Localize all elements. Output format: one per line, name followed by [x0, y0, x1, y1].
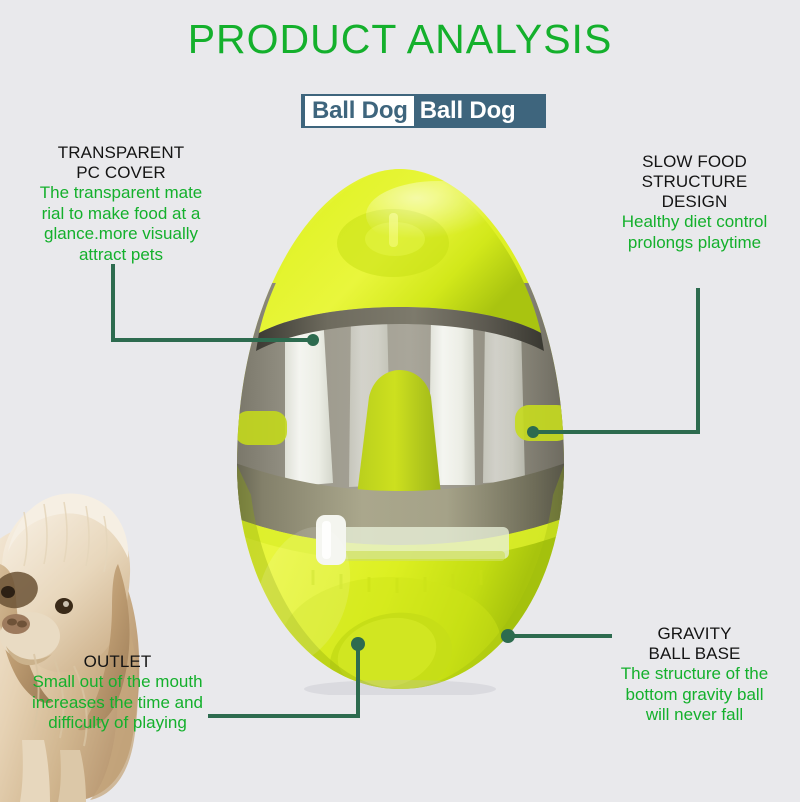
annotation-heading: TRANSPARENT PC COVER: [16, 143, 226, 183]
annotation-slow-food: SLOW FOOD STRUCTURE DESIGN Healthy diet …: [592, 152, 797, 253]
leader-line-outlet: [206, 634, 366, 720]
brand-plain-label: Ball Dog: [420, 97, 516, 125]
brand-chip-inverted: Ball Dog: [305, 96, 414, 126]
leader-line-slow-food: [526, 286, 702, 442]
annotation-body: The structure of the bottom gravity ball…: [592, 664, 797, 726]
annotation-outlet: OUTLET Small out of the mouth increases …: [10, 652, 225, 734]
annotation-heading: OUTLET: [10, 652, 225, 672]
brand-banner: Ball Dog Ball Dog: [301, 94, 546, 128]
annotation-heading: GRAVITY BALL BASE: [592, 624, 797, 664]
annotation-transparent-cover: TRANSPARENT PC COVER The transparent mat…: [16, 143, 226, 265]
annotation-body: Small out of the mouth increases the tim…: [10, 672, 225, 734]
shih-tzu-dog-photo: [0, 440, 199, 802]
annotation-body: The transparent mate rial to make food a…: [16, 183, 226, 265]
leader-line-transparent-cover: [110, 262, 325, 352]
annotation-body: Healthy diet control prolongs playtime: [592, 212, 797, 253]
page-title: PRODUCT ANALYSIS: [0, 16, 800, 63]
annotation-heading: SLOW FOOD STRUCTURE DESIGN: [592, 152, 797, 212]
brand-chip-label: Ball Dog: [312, 97, 408, 125]
annotation-gravity-base: GRAVITY BALL BASE The structure of the b…: [592, 624, 797, 726]
